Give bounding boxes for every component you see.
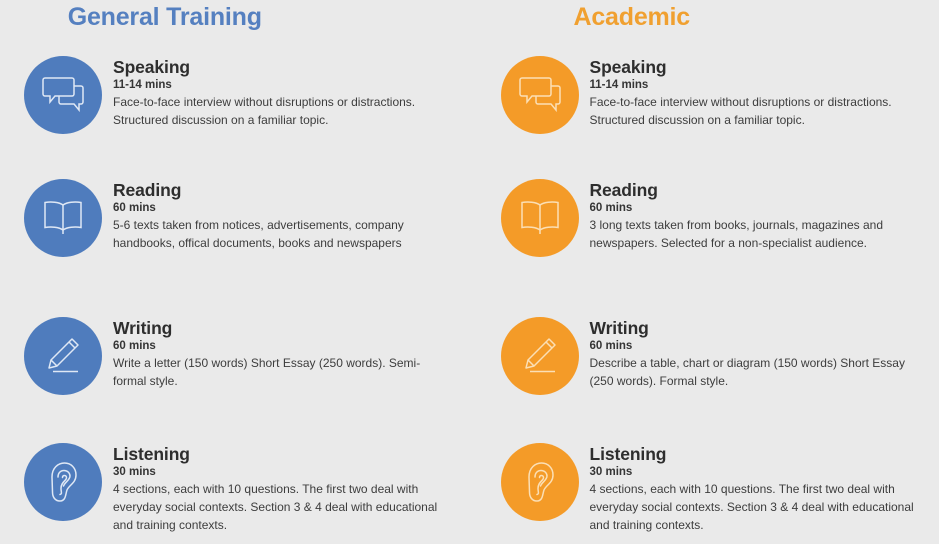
reading-icon-badge — [24, 179, 102, 257]
section-description: 4 sections, each with 10 questions. The … — [590, 480, 920, 534]
section-description: 4 sections, each with 10 questions. The … — [113, 480, 443, 534]
ielts-test-format-comparison: General Training Speaking 11-14 mins Fac… — [0, 0, 939, 544]
section-duration: 60 mins — [113, 201, 462, 215]
section-duration: 30 mins — [590, 465, 939, 479]
writing-icon-badge — [24, 317, 102, 395]
section-row-writing: Writing 60 mins Describe a table, chart … — [470, 311, 939, 437]
section-duration: 30 mins — [113, 465, 462, 479]
ear-icon — [45, 461, 81, 503]
column-heading-general-training: General Training — [0, 0, 470, 38]
writing-icon-badge — [501, 317, 579, 395]
section-row-writing: Writing 60 mins Write a letter (150 word… — [0, 311, 470, 437]
writing-text-block: Writing 60 mins Describe a table, chart … — [579, 317, 939, 390]
section-row-reading: Reading 60 mins 5-6 texts taken from not… — [0, 169, 470, 311]
speaking-text-block: Speaking 11-14 mins Face-to-face intervi… — [579, 56, 939, 129]
open-book-icon — [42, 199, 84, 237]
section-duration: 60 mins — [113, 339, 462, 353]
listening-icon-badge — [24, 443, 102, 521]
ear-icon — [522, 461, 558, 503]
open-book-icon — [519, 199, 561, 237]
section-title: Writing — [113, 318, 462, 338]
speech-bubbles-icon — [518, 75, 562, 115]
section-description: Face-to-face interview without disruptio… — [590, 93, 920, 129]
speaking-icon-badge — [501, 56, 579, 134]
section-duration: 60 mins — [590, 339, 939, 353]
reading-text-block: Reading 60 mins 5-6 texts taken from not… — [102, 179, 462, 252]
column-academic: Academic Speaking 11-14 mins Face-to-fac… — [470, 0, 939, 544]
column-general-training: General Training Speaking 11-14 mins Fac… — [0, 0, 470, 544]
column-heading-academic: Academic — [470, 0, 939, 38]
listening-icon-badge — [501, 443, 579, 521]
section-description: 3 long texts taken from books, journals,… — [590, 216, 920, 252]
section-title: Speaking — [590, 57, 939, 77]
section-title: Reading — [113, 180, 462, 200]
reading-text-block: Reading 60 mins 3 long texts taken from … — [579, 179, 939, 252]
section-row-speaking: Speaking 11-14 mins Face-to-face intervi… — [470, 38, 939, 169]
section-duration: 60 mins — [590, 201, 939, 215]
speaking-icon-badge — [24, 56, 102, 134]
pencil-icon — [519, 336, 561, 376]
section-description: Face-to-face interview without disruptio… — [113, 93, 443, 129]
section-title: Listening — [113, 444, 462, 464]
section-title: Reading — [590, 180, 939, 200]
section-row-reading: Reading 60 mins 3 long texts taken from … — [470, 169, 939, 311]
section-list-general-training: Speaking 11-14 mins Face-to-face intervi… — [0, 38, 470, 544]
section-duration: 11-14 mins — [590, 78, 939, 92]
pencil-icon — [42, 336, 84, 376]
section-title: Writing — [590, 318, 939, 338]
listening-text-block: Listening 30 mins 4 sections, each with … — [579, 443, 939, 534]
reading-icon-badge — [501, 179, 579, 257]
section-duration: 11-14 mins — [113, 78, 462, 92]
writing-text-block: Writing 60 mins Write a letter (150 word… — [102, 317, 462, 390]
section-description: Write a letter (150 words) Short Essay (… — [113, 354, 443, 390]
section-title: Listening — [590, 444, 939, 464]
section-row-speaking: Speaking 11-14 mins Face-to-face intervi… — [0, 38, 470, 169]
speaking-text-block: Speaking 11-14 mins Face-to-face intervi… — [102, 56, 462, 129]
section-list-academic: Speaking 11-14 mins Face-to-face intervi… — [470, 38, 939, 544]
section-row-listening: Listening 30 mins 4 sections, each with … — [470, 437, 939, 544]
listening-text-block: Listening 30 mins 4 sections, each with … — [102, 443, 462, 534]
section-title: Speaking — [113, 57, 462, 77]
speech-bubbles-icon — [41, 75, 85, 115]
section-description: 5-6 texts taken from notices, advertisem… — [113, 216, 443, 252]
section-row-listening: Listening 30 mins 4 sections, each with … — [0, 437, 470, 544]
section-description: Describe a table, chart or diagram (150 … — [590, 354, 920, 390]
